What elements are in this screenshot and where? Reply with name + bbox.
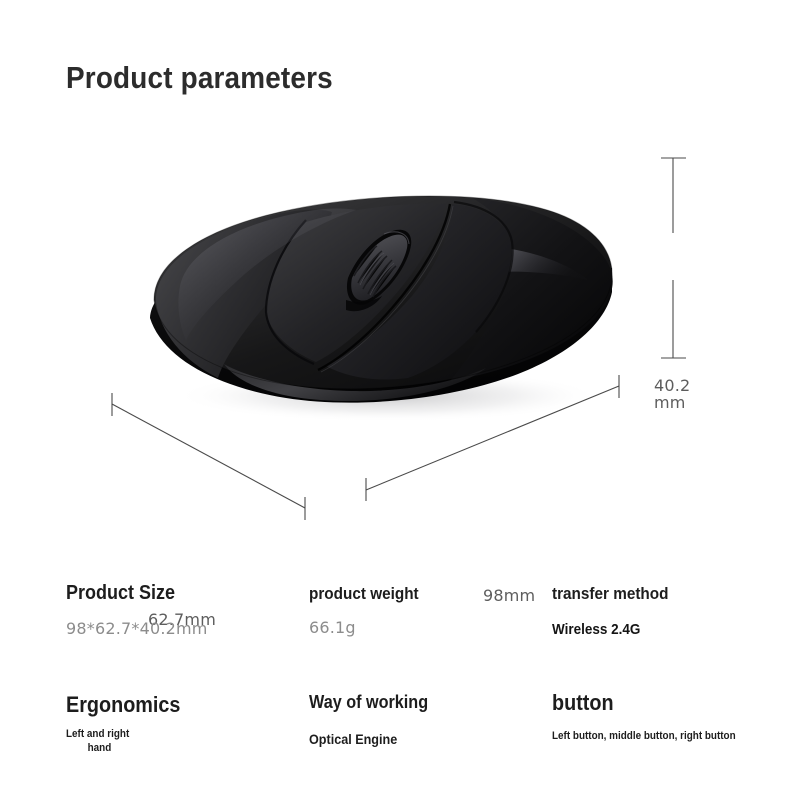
spec-label-button: button [552, 690, 736, 716]
spec-item-product-weight: product weight 66.1g [309, 584, 431, 637]
spec-value-ergonomics-line2: hand [66, 741, 147, 755]
spec-item-button: button Left button, middle button, right… [552, 690, 756, 742]
spec-value-transfer-method: Wireless 2.4G [552, 621, 668, 638]
product-image-stage: 40.2 mm 98mm 62.7mm [0, 140, 800, 540]
spec-grid: Product Size 98*62.7*40.2mm product weig… [0, 560, 800, 800]
spec-value-product-weight: 66.1g [309, 618, 431, 637]
spec-label-way-of-working: Way of working [309, 692, 428, 713]
spec-label-ergonomics: Ergonomics [66, 692, 180, 718]
spec-item-ergonomics: Ergonomics Left and righthand [66, 692, 193, 755]
spec-label-transfer-method: transfer method [552, 584, 668, 604]
spec-item-way-of-working: Way of working Optical Engine [309, 692, 441, 747]
spec-label-product-size: Product Size [66, 582, 193, 605]
spec-value-product-size: 98*62.7*40.2mm [66, 619, 208, 638]
spec-value-ergonomics: Left and righthand [66, 727, 147, 755]
spec-item-product-size: Product Size 98*62.7*40.2mm [66, 582, 208, 638]
spec-value-ergonomics-line1: Left and right [66, 728, 129, 740]
spec-value-way-of-working: Optical Engine [309, 731, 428, 747]
product-parameters-page: Product parameters [0, 0, 800, 800]
spec-label-product-weight: product weight [309, 584, 419, 604]
dimension-label-height: 40.2 mm [654, 377, 690, 411]
spec-item-transfer-method: transfer method Wireless 2.4G [552, 584, 681, 638]
spec-value-button: Left button, middle button, right button [552, 730, 736, 742]
mouse-product-image [120, 150, 640, 450]
page-title: Product parameters [66, 60, 333, 96]
dimension-height-unit: mm [654, 393, 686, 412]
